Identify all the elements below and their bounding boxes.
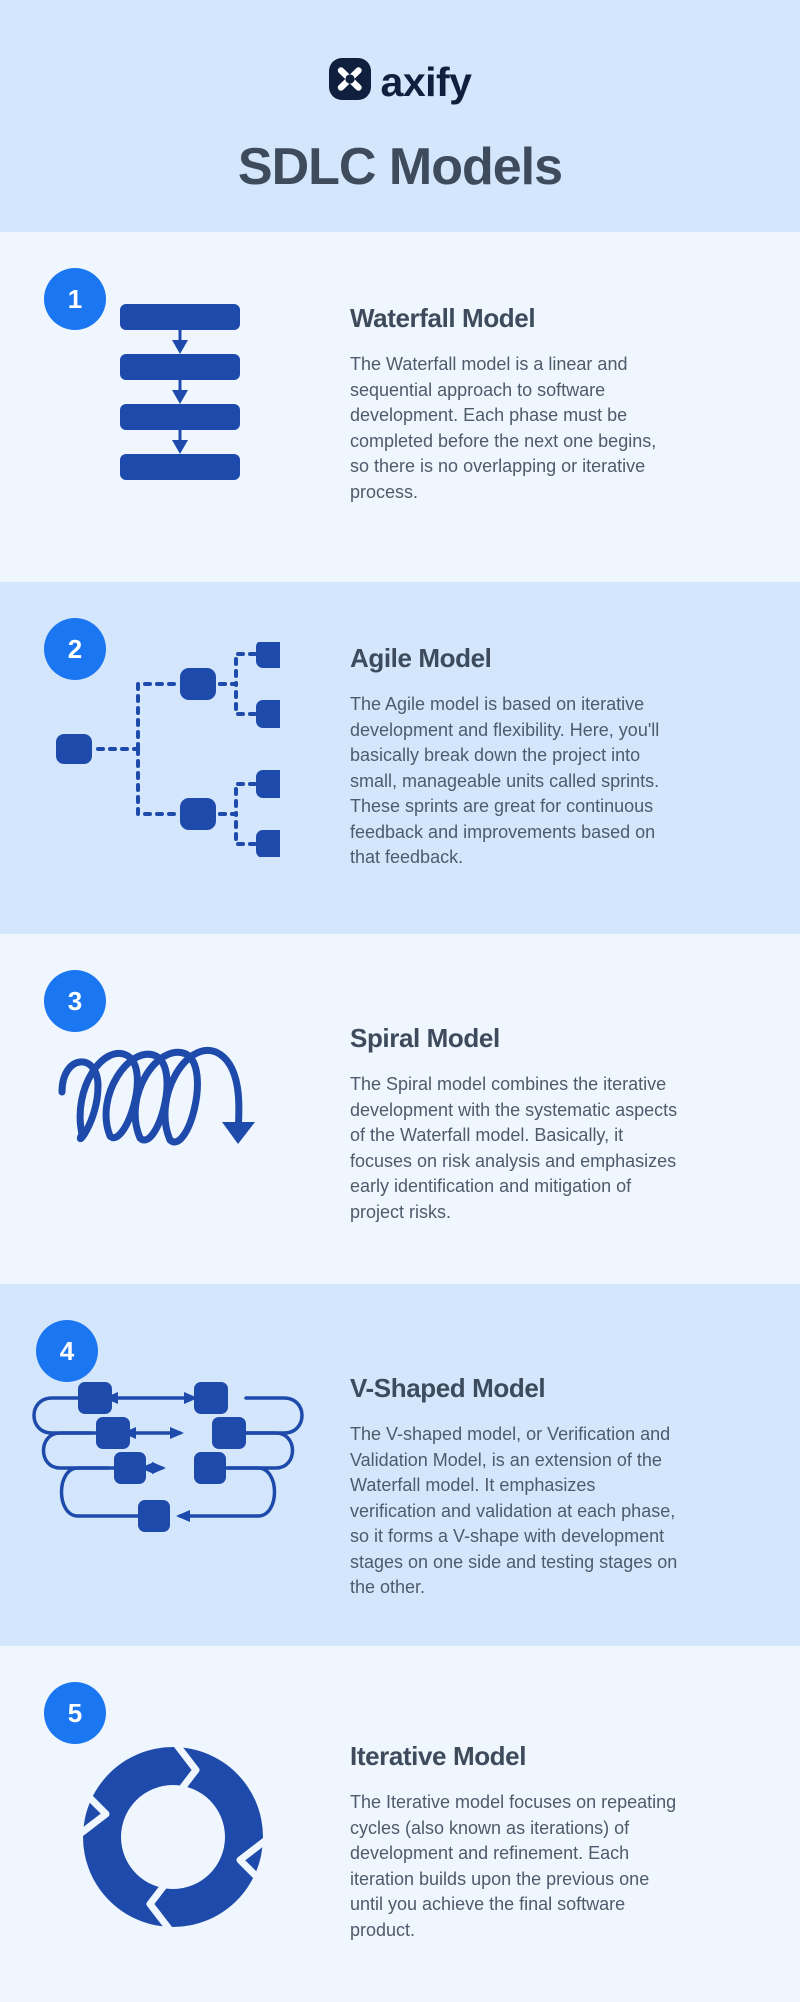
section-agile-model: 2 (0, 582, 800, 934)
model-description: The Iterative model focuses on repeating… (350, 1790, 680, 1943)
model-description: The Agile model is based on iterative de… (350, 692, 680, 871)
model-title: Iterative Model (350, 1742, 766, 1772)
model-description: The Spiral model combines the iterative … (350, 1072, 680, 1225)
model-title: Waterfall Model (350, 304, 766, 334)
spiral-coil-arrow-diagram (52, 1026, 272, 1171)
infographic-page: axify SDLC Models 1 (0, 0, 800, 2002)
waterfall-stacked-bars-diagram (110, 302, 260, 487)
v-shaped-text-column: V-Shaped Model The V-shaped model, or Ve… (350, 1284, 800, 1601)
iterative-text-column: Iterative Model The Iterative model focu… (350, 1646, 800, 1943)
section-spiral-model: 3 Spiral Model The Spiral model combines… (0, 934, 800, 1284)
header: axify SDLC Models (0, 0, 800, 232)
model-title: V-Shaped Model (350, 1374, 766, 1404)
agile-text-column: Agile Model The Agile model is based on … (350, 582, 800, 871)
iterative-circular-ring-diagram (80, 1744, 266, 1935)
model-title: Agile Model (350, 644, 766, 674)
section-iterative-model: 5 (0, 1646, 800, 2002)
model-description: The V-shaped model, or Verification and … (350, 1422, 680, 1601)
model-description: The Waterfall model is a linear and sequ… (350, 352, 680, 505)
brand-name: axify (381, 62, 472, 103)
step-number-badge: 3 (44, 970, 106, 1032)
section-v-shaped-model: 4 (0, 1284, 800, 1646)
axify-x-logo-icon (329, 58, 371, 105)
page-title: SDLC Models (0, 139, 800, 196)
step-number-badge: 5 (44, 1682, 106, 1744)
step-number-badge: 2 (44, 618, 106, 680)
model-title: Spiral Model (350, 1024, 766, 1054)
spiral-text-column: Spiral Model The Spiral model combines t… (350, 934, 800, 1225)
waterfall-text-column: Waterfall Model The Waterfall model is a… (350, 232, 800, 505)
step-number-badge: 4 (36, 1320, 98, 1382)
section-waterfall-model: 1 (0, 232, 800, 582)
v-shaped-nodes-arrows-diagram (8, 1376, 328, 1566)
brand-logo: axify (0, 58, 800, 105)
step-number-badge: 1 (44, 268, 106, 330)
